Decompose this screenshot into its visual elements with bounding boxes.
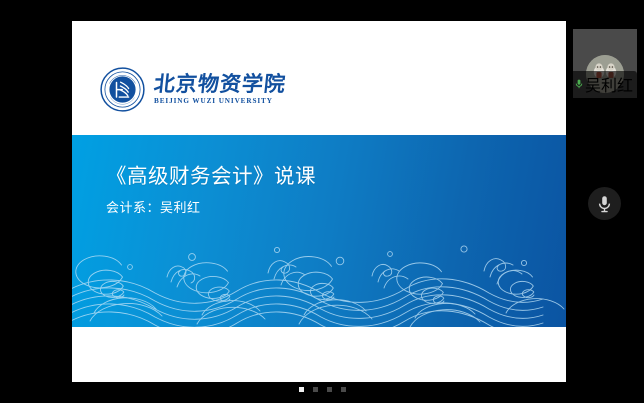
- slide-title: 《高级财务会计》说课: [106, 159, 316, 189]
- slide-title-band: 《高级财务会计》说课 会计系：吴利红: [72, 135, 566, 327]
- chinese-wave-pattern-decoration: [72, 241, 566, 327]
- pagination-dots[interactable]: [0, 387, 644, 392]
- participant-name: 吴利红: [585, 72, 633, 96]
- slide-header-area: 北京物资学院 BEIJING WUZI UNIVERSITY: [72, 21, 566, 135]
- wordmark-chinese: 北京物资学院: [153, 73, 287, 94]
- participant-nameplate: 吴利红: [573, 71, 637, 98]
- slide-subtitle: 会计系：吴利红: [106, 197, 201, 216]
- page-dot-1[interactable]: [299, 387, 304, 392]
- university-seal-icon: [100, 67, 145, 112]
- page-dot-4[interactable]: [341, 387, 346, 392]
- shared-slide[interactable]: 北京物资学院 BEIJING WUZI UNIVERSITY 《高级财务会计》说…: [72, 21, 566, 382]
- wordmark-english: BEIJING WUZI UNIVERSITY: [154, 98, 286, 105]
- self-microphone-button[interactable]: [588, 187, 621, 220]
- slide-footer-area: [72, 327, 566, 382]
- page-dot-2[interactable]: [313, 387, 318, 392]
- university-logo-lockup: 北京物资学院 BEIJING WUZI UNIVERSITY: [100, 67, 286, 112]
- page-dot-3[interactable]: [327, 387, 332, 392]
- university-wordmark: 北京物资学院 BEIJING WUZI UNIVERSITY: [154, 73, 286, 105]
- microphone-icon: [575, 79, 583, 89]
- microphone-icon: [597, 195, 612, 213]
- screen-share-stage: 北京物资学院 BEIJING WUZI UNIVERSITY 《高级财务会计》说…: [0, 0, 644, 403]
- participant-thumbnail[interactable]: 吴利红: [573, 29, 637, 98]
